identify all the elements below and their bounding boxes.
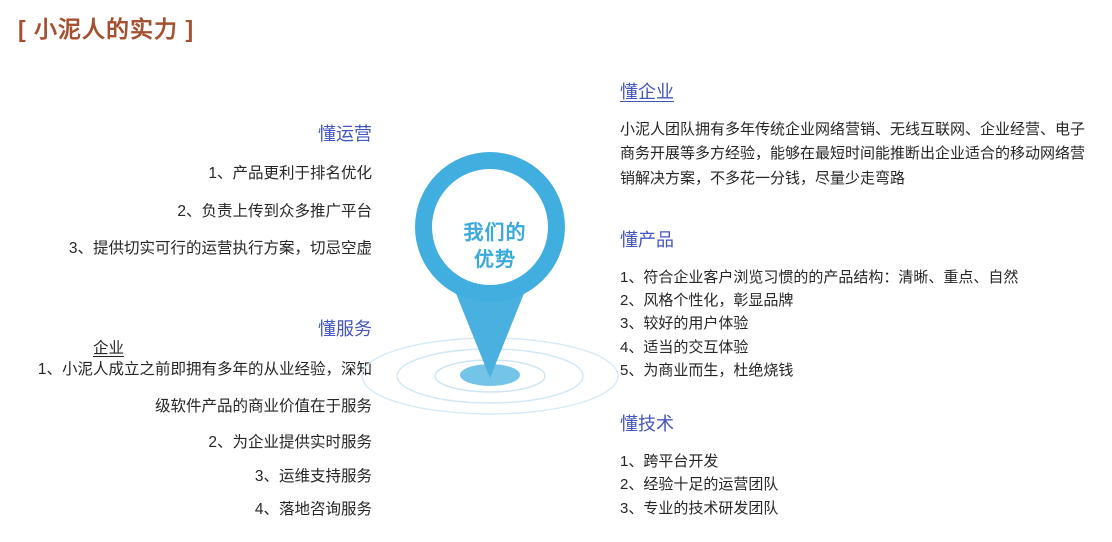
list-item: 4、适当的交互体验: [620, 336, 1098, 359]
list-item: 3、较好的用户体验: [620, 312, 1098, 335]
map-pin-icon: [350, 140, 640, 415]
list-item: 1、跨平台开发: [620, 450, 1098, 473]
section-product: 懂产品 1、符合企业客户浏览习惯的的产品结构：清晰、重点、自然 2、风格个性化，…: [620, 226, 1098, 382]
slide-canvas: [ 小泥人的实力 ] 懂运营 1、产品更利于排名优化 2、负责上传到众多推广平台…: [0, 0, 1112, 542]
technology-list: 1、跨平台开发 2、经验十足的运营团队 3、专业的技术研发团队: [620, 450, 1098, 520]
section-heading-technology: 懂技术: [620, 410, 1098, 436]
list-item: 1、产品更利于排名优化: [0, 166, 372, 182]
list-item: 2、风格个性化，彰显品牌: [620, 289, 1098, 312]
product-list: 1、符合企业客户浏览习惯的的产品结构：清晰、重点、自然 2、风格个性化，彰显品牌…: [620, 266, 1098, 382]
operations-list: 1、产品更利于排名优化 2、负责上传到众多推广平台 3、提供切实可行的运营执行方…: [0, 166, 372, 257]
list-item: 1、小泥人成立之前即拥有多年的从业经验，深知: [0, 362, 372, 378]
service-floating-note: 企业: [93, 336, 124, 358]
service-list: 1、小泥人成立之前即拥有多年的从业经验，深知 级软件产品的商业价值在于服务 2、…: [0, 362, 372, 518]
right-column: 懂企业 小泥人团队拥有多年传统企业网络营销、无线互联网、企业经营、电子商务开展等…: [620, 78, 1098, 520]
section-heading-enterprise: 懂企业: [620, 78, 1098, 104]
list-item: 3、专业的技术研发团队: [620, 497, 1098, 520]
list-item: 5、为商业而生，杜绝烧钱: [620, 359, 1098, 382]
list-item: 2、经验十足的运营团队: [620, 473, 1098, 496]
list-item: 3、运维支持服务: [0, 469, 372, 485]
section-enterprise: 懂企业 小泥人团队拥有多年传统企业网络营销、无线互联网、企业经营、电子商务开展等…: [620, 78, 1098, 191]
map-pin-graphic: 我们的 优势: [350, 140, 640, 415]
section-heading-service: 懂服务: [0, 315, 372, 341]
spacer: [620, 382, 1098, 410]
list-item: 2、负责上传到众多推广平台: [0, 204, 372, 220]
page-title: [ 小泥人的实力 ]: [18, 10, 194, 44]
enterprise-paragraph: 小泥人团队拥有多年传统企业网络营销、无线互联网、企业经营、电子商务开展等多方经验…: [620, 118, 1098, 191]
list-item: 级软件产品的商业价值在于服务: [0, 399, 372, 415]
section-technology: 懂技术 1、跨平台开发 2、经验十足的运营团队 3、专业的技术研发团队: [620, 410, 1098, 520]
list-item: 1、符合企业客户浏览习惯的的产品结构：清晰、重点、自然: [620, 266, 1098, 289]
list-item: 3、提供切实可行的运营执行方案，切忌空虚: [0, 241, 372, 257]
section-operations: 懂运营 1、产品更利于排名优化 2、负责上传到众多推广平台 3、提供切实可行的运…: [0, 120, 372, 257]
left-column: 懂运营 1、产品更利于排名优化 2、负责上传到众多推广平台 3、提供切实可行的运…: [0, 120, 372, 257]
section-service: 懂服务 企业 1、小泥人成立之前即拥有多年的从业经验，深知 级软件产品的商业价值…: [0, 315, 372, 518]
list-item: 2、为企业提供实时服务: [0, 435, 372, 451]
section-heading-operations: 懂运营: [0, 120, 372, 146]
spacer: [620, 191, 1098, 226]
list-item: 4、落地咨询服务: [0, 502, 372, 518]
section-heading-product: 懂产品: [620, 226, 1098, 252]
